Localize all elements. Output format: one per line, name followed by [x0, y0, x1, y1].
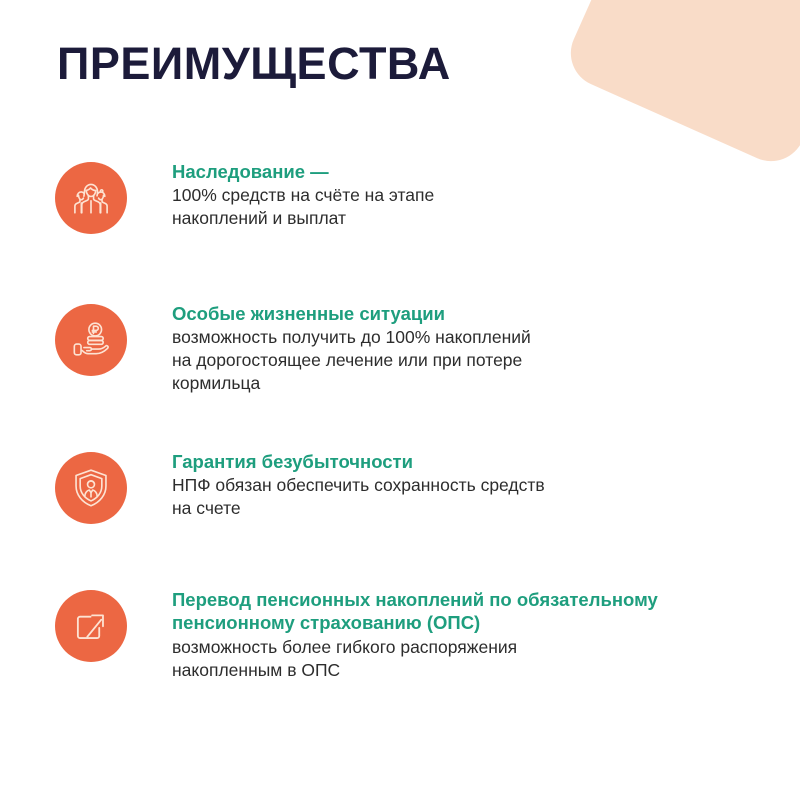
benefit-heading-line: страхованию (ОПС)	[300, 612, 480, 633]
benefit-body: возможность более гибкого распоряжения н…	[172, 636, 755, 682]
benefit-heading: Гарантия безубыточности	[172, 450, 545, 473]
benefit-body-line: на дорогостоящее лечение или при потере	[172, 349, 531, 372]
benefit-body-line: накоплений и выплат	[172, 207, 434, 230]
benefit-heading: Перевод пенсионных накоплений по обязате…	[172, 588, 755, 635]
family-group-icon	[55, 162, 127, 234]
benefit-text: Перевод пенсионных накоплений по обязате…	[172, 586, 755, 681]
benefit-body-line: на счете	[172, 497, 545, 520]
benefit-body-line: возможность более гибкого распоряжения	[172, 636, 755, 659]
export-arrow-icon	[55, 590, 127, 662]
benefit-item-special-situations: Особые жизненные ситуации возможность по…	[55, 300, 755, 395]
slide-root: ПРЕИМУЩЕСТВА	[0, 0, 800, 800]
benefit-heading-line: Перевод пенсионных накоплений	[172, 589, 484, 610]
benefit-body-line: 100% средств на счёте на этапе	[172, 184, 434, 207]
benefit-text: Особые жизненные ситуации возможность по…	[172, 300, 531, 395]
benefit-text: Наследование — 100% средств на счёте на …	[172, 158, 434, 230]
benefit-body: НПФ обязан обеспечить сохранность средст…	[172, 474, 545, 520]
benefit-heading: Особые жизненные ситуации	[172, 302, 531, 325]
page-title: ПРЕИМУЩЕСТВА	[57, 40, 451, 88]
benefit-body: 100% средств на счёте на этапе накоплени…	[172, 184, 434, 230]
benefit-item-inheritance: Наследование — 100% средств на счёте на …	[55, 158, 755, 234]
benefit-body-line: возможность получить до 100% накоплений	[172, 326, 531, 349]
decorative-rounded-square	[560, 0, 800, 172]
benefit-body-line: кормильца	[172, 372, 531, 395]
benefit-heading: Наследование —	[172, 160, 434, 183]
shield-person-icon	[55, 452, 127, 524]
benefit-item-guarantee: Гарантия безубыточности НПФ обязан обесп…	[55, 448, 755, 524]
benefit-body: возможность получить до 100% накоплений …	[172, 326, 531, 395]
benefit-text: Гарантия безубыточности НПФ обязан обесп…	[172, 448, 545, 520]
hand-holding-ruble-coins-icon	[55, 304, 127, 376]
benefit-body-line: накопленным в ОПС	[172, 659, 755, 682]
benefit-item-ops-transfer: Перевод пенсионных накоплений по обязате…	[55, 586, 755, 681]
benefit-body-line: НПФ обязан обеспечить сохранность средст…	[172, 474, 545, 497]
